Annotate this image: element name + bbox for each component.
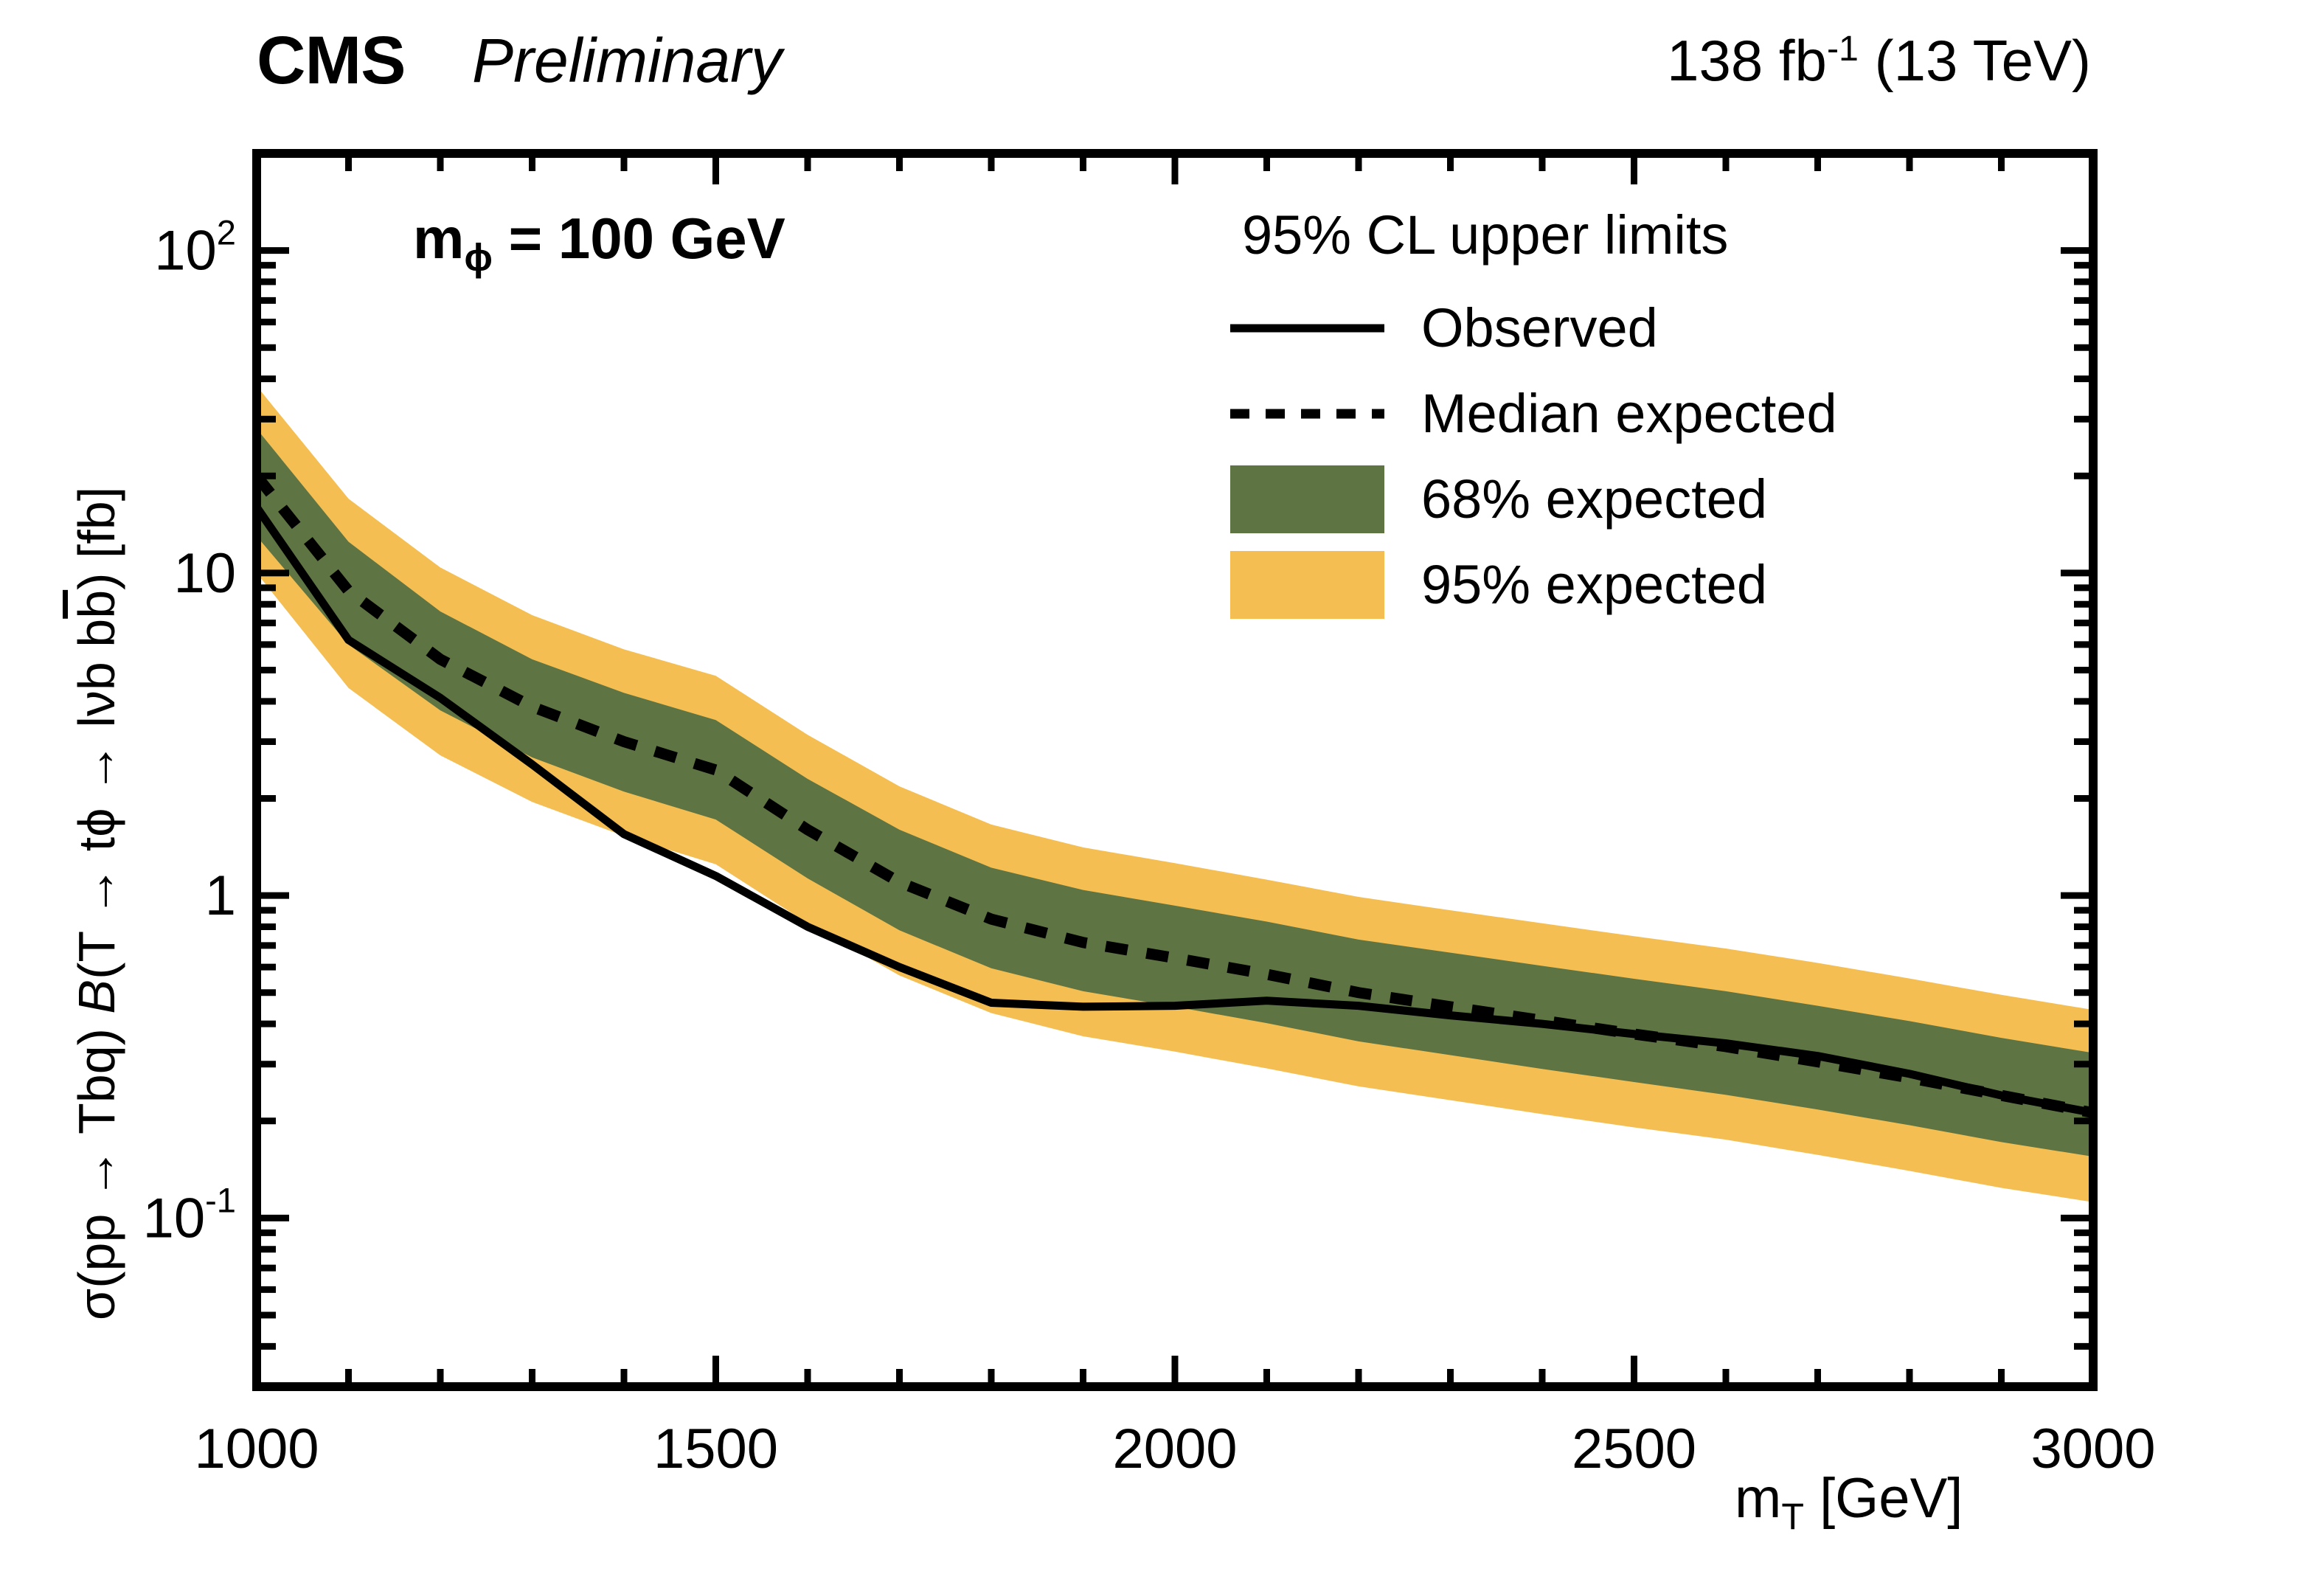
x-tick-label: 3000 — [2030, 1418, 2155, 1480]
y-tick-label: 10 — [173, 542, 236, 605]
cms-limit-plot: CMS Preliminary 138 fb-1 (13 TeV) σ(pp →… — [0, 0, 2324, 1574]
x-tick-label: 1500 — [653, 1418, 778, 1480]
y-tick-label: 1 — [205, 864, 236, 927]
plot-canvas: 1000150020002500300010210110-1 — [0, 0, 2324, 1574]
y-tick-label: 102 — [154, 213, 236, 282]
x-tick-label: 1000 — [194, 1418, 319, 1480]
uncertainty-bands — [257, 386, 2093, 1202]
x-tick-label: 2000 — [1112, 1418, 1237, 1480]
y-tick-label: 10-1 — [143, 1180, 236, 1249]
x-tick-label: 2500 — [1572, 1418, 1696, 1480]
axis-tick-labels: 1000150020002500300010210110-1 — [143, 213, 2156, 1480]
